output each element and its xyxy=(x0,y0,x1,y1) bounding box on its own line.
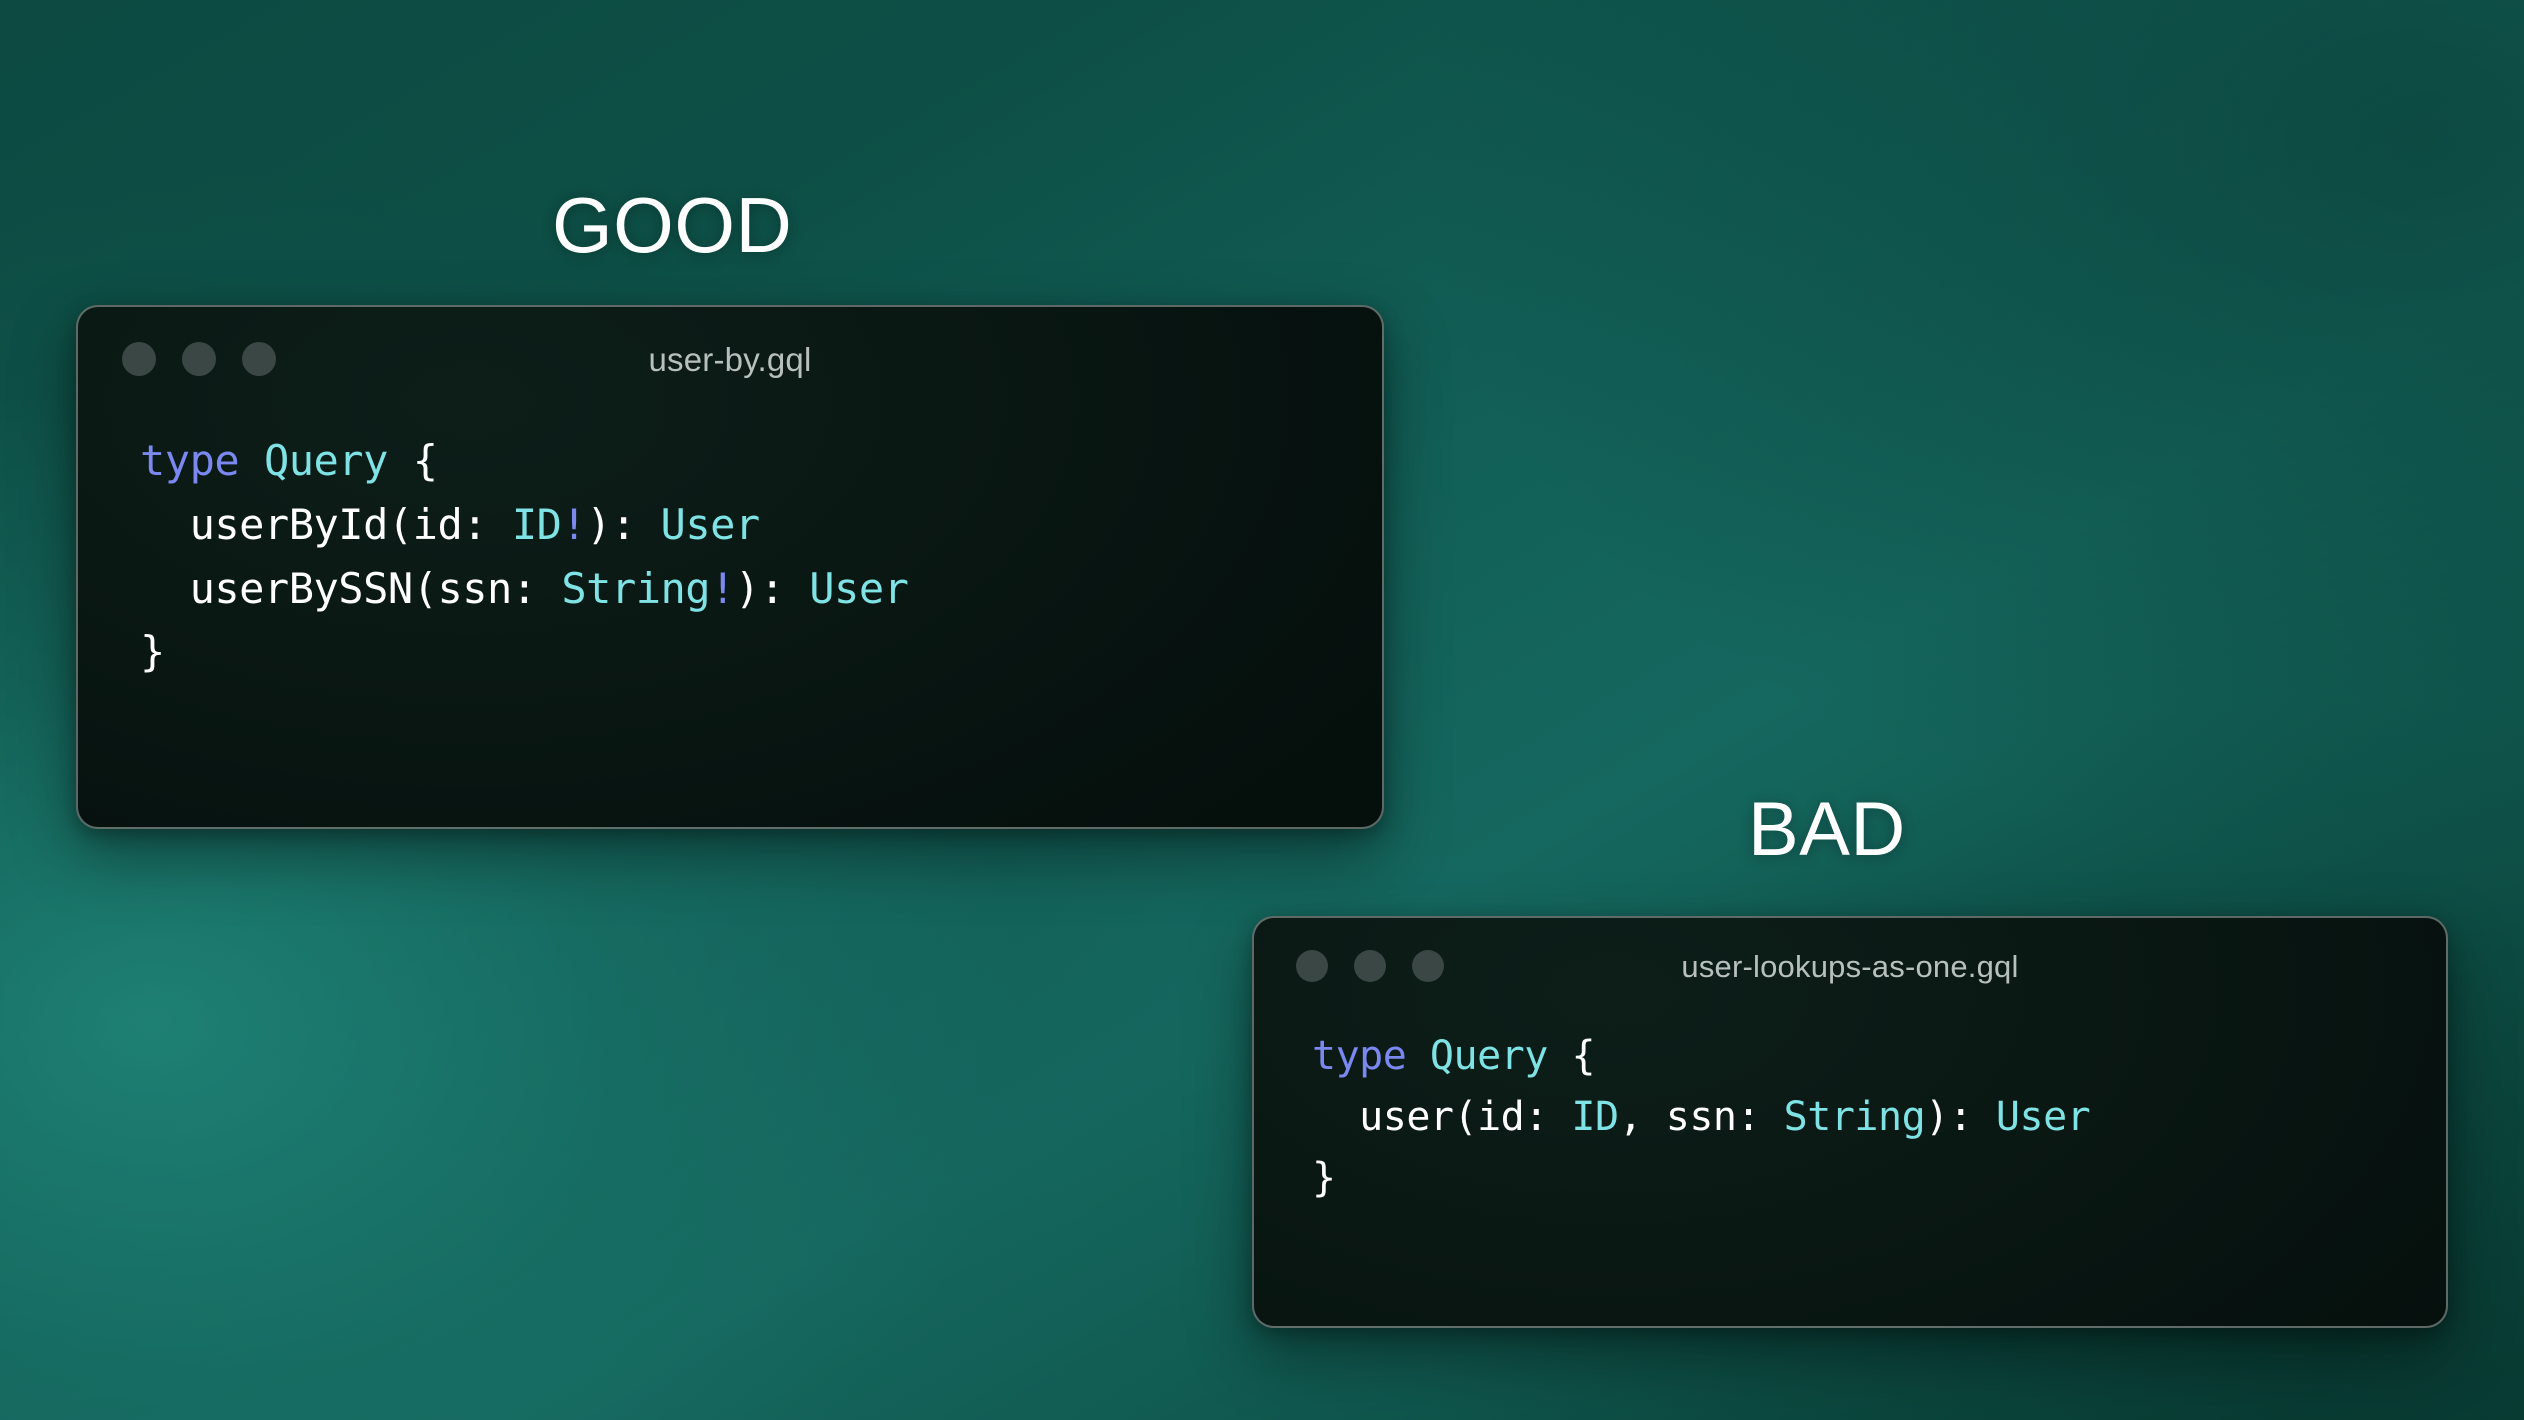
code-token-keyword: ! xyxy=(710,564,735,613)
window-titlebar: user-lookups-as-one.gql xyxy=(1254,918,2446,1014)
close-dot-icon[interactable] xyxy=(122,342,156,376)
code-token-type: String xyxy=(561,564,710,613)
code-token-plain xyxy=(388,436,413,485)
close-dot-icon[interactable] xyxy=(1296,950,1328,982)
code-token-plain: userById(id: xyxy=(190,500,512,549)
code-token-keyword: ! xyxy=(561,500,586,549)
code-token-keyword: type xyxy=(1312,1033,1406,1079)
code-token-type: User xyxy=(1996,1094,2090,1140)
code-token-type: ID xyxy=(1571,1094,1618,1140)
code-token-plain: , ssn: xyxy=(1619,1094,1784,1140)
maximize-dot-icon[interactable] xyxy=(1412,950,1444,982)
code-token-type: ID xyxy=(512,500,562,549)
code-token-punctuation: } xyxy=(1312,1155,1336,1201)
code-token-plain xyxy=(1548,1033,1572,1079)
code-line: userById(id: ID!): User xyxy=(140,493,1382,557)
code-block-bad: type Query { user(id: ID, ssn: String): … xyxy=(1254,1014,2446,1208)
code-token-keyword: type xyxy=(140,436,239,485)
code-token-plain: ): xyxy=(586,500,660,549)
code-token-plain: ): xyxy=(735,564,809,613)
code-window-bad: user-lookups-as-one.gql type Query { use… xyxy=(1252,916,2448,1328)
code-line: } xyxy=(1312,1148,2446,1209)
code-token-punctuation: { xyxy=(1571,1033,1595,1079)
minimize-dot-icon[interactable] xyxy=(1354,950,1386,982)
minimize-dot-icon[interactable] xyxy=(182,342,216,376)
code-block-good: type Query { userById(id: ID!): User use… xyxy=(78,411,1382,684)
code-token-punctuation: { xyxy=(413,436,438,485)
verdict-label-bad: BAD xyxy=(1748,792,1906,868)
code-line: } xyxy=(140,620,1382,684)
code-token-type: User xyxy=(661,500,760,549)
code-token-type: Query xyxy=(1430,1033,1548,1079)
code-line: userBySSN(ssn: String!): User xyxy=(140,557,1382,621)
traffic-light-dots xyxy=(122,342,276,376)
window-titlebar: user-by.gql xyxy=(78,307,1382,411)
code-token-plain: ): xyxy=(1925,1094,1996,1140)
traffic-light-dots xyxy=(1296,950,1444,982)
code-token-plain: user(id: xyxy=(1359,1094,1571,1140)
verdict-label-good: GOOD xyxy=(552,186,792,264)
code-token-type: User xyxy=(809,564,908,613)
code-token-plain xyxy=(1406,1033,1430,1079)
code-token-plain: userBySSN(ssn: xyxy=(190,564,562,613)
maximize-dot-icon[interactable] xyxy=(242,342,276,376)
code-token-type: String xyxy=(1784,1094,1926,1140)
code-line: type Query { xyxy=(1312,1026,2446,1087)
code-token-type: Query xyxy=(264,436,388,485)
code-token-plain xyxy=(239,436,264,485)
code-window-good: user-by.gql type Query { userById(id: ID… xyxy=(76,305,1384,829)
code-line: user(id: ID, ssn: String): User xyxy=(1312,1087,2446,1148)
comparison-stage: GOOD user-by.gql type Query { userById(i… xyxy=(0,0,2524,1420)
code-line: type Query { xyxy=(140,429,1382,493)
code-token-punctuation: } xyxy=(140,627,165,676)
